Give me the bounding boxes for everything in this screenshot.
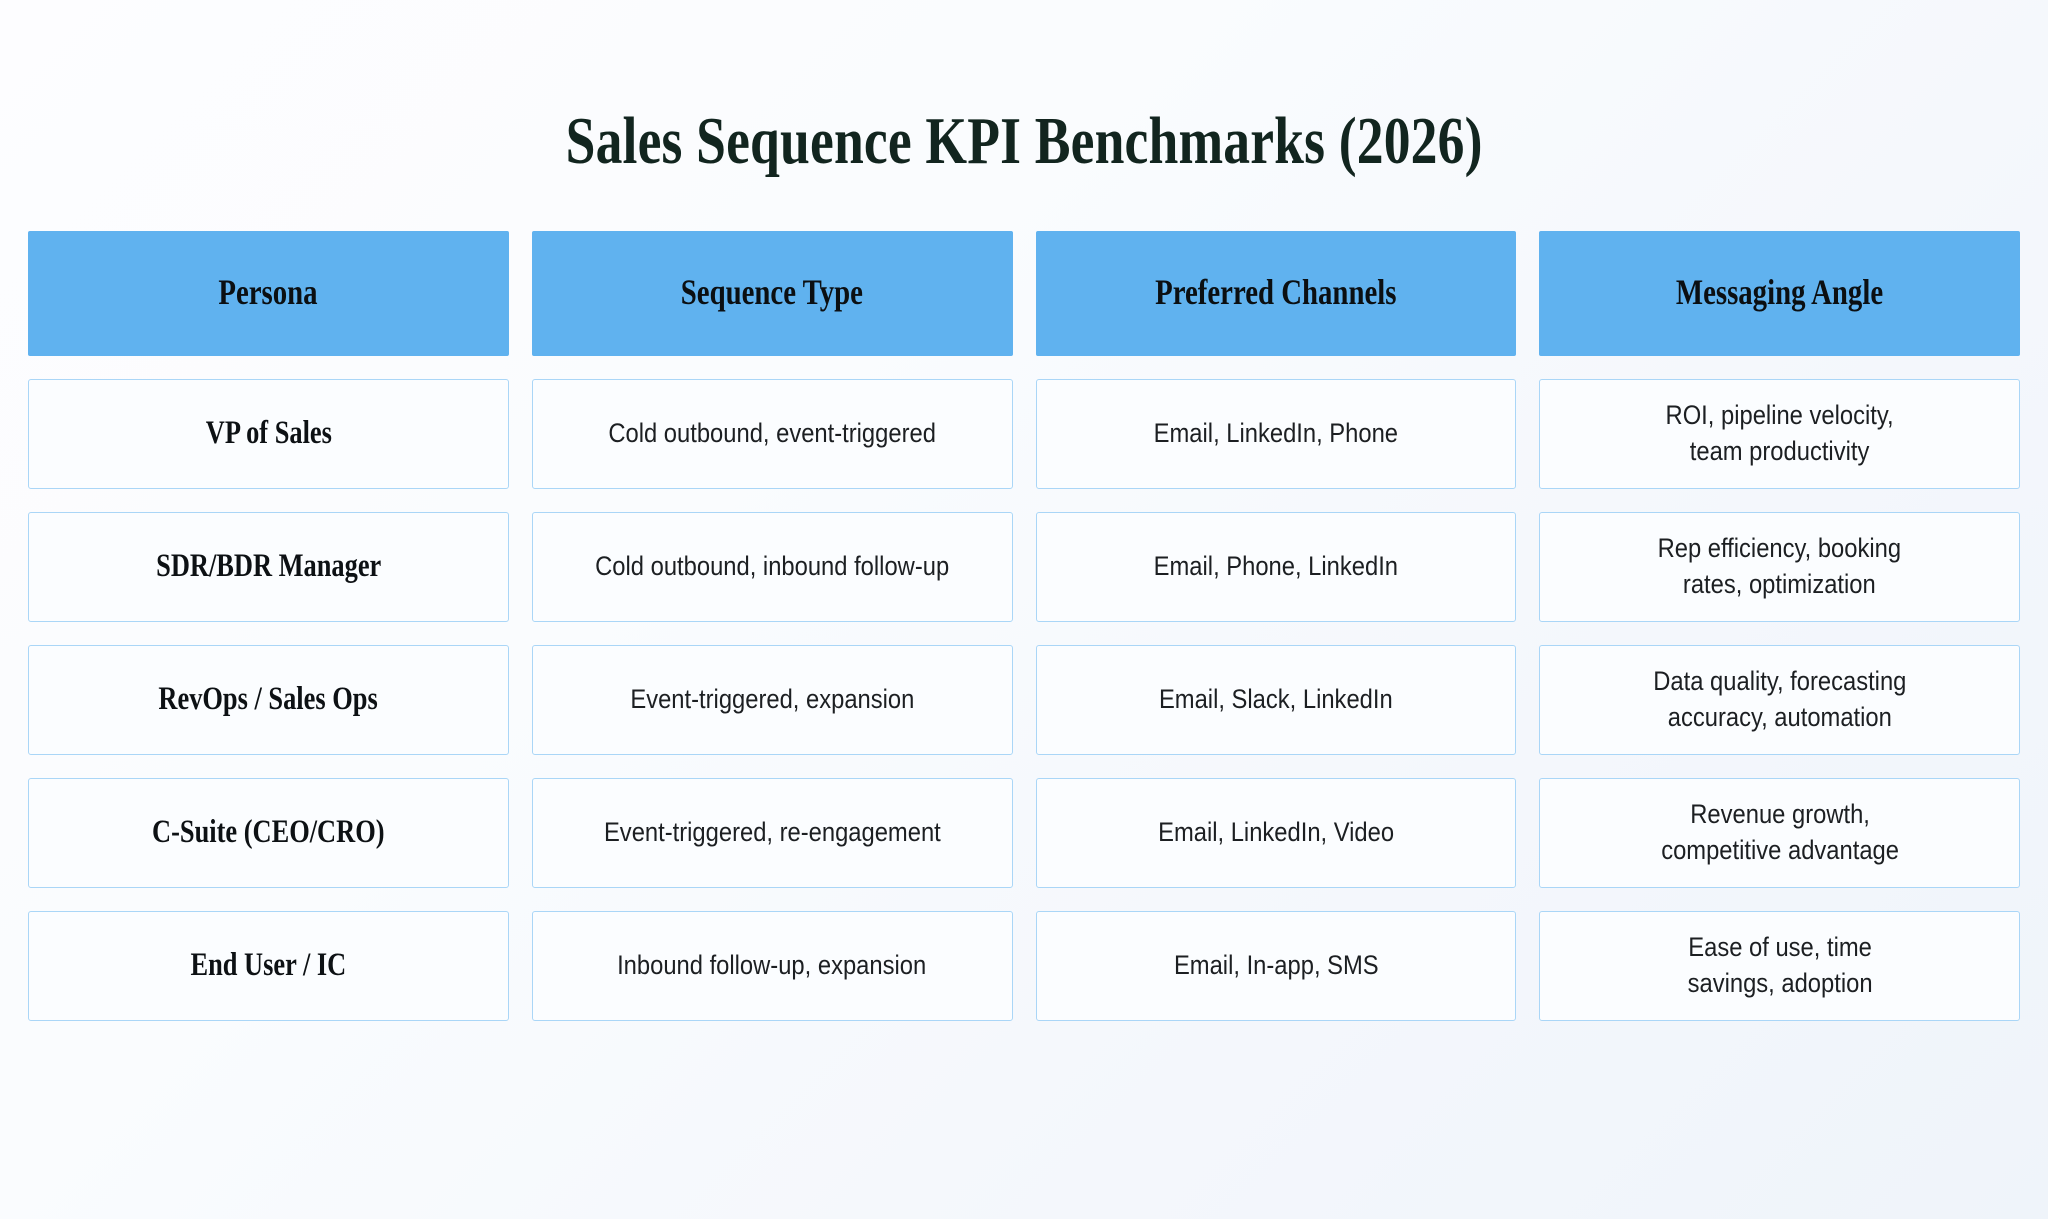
cell-messaging-angle: Ease of use, time savings, adoption xyxy=(1539,911,2020,1021)
cell-sequence-type: Event-triggered, re-engagement xyxy=(532,778,1013,888)
column-header-label: Sequence Type xyxy=(681,272,863,313)
cell-preferred-channels: Email, Slack, LinkedIn xyxy=(1036,645,1517,755)
cell-persona: RevOps / Sales Ops xyxy=(28,645,509,755)
cell-sequence-type: Cold outbound, event-triggered xyxy=(532,379,1013,489)
column-header-persona: Persona xyxy=(28,231,509,356)
cell-preferred-channels: Email, LinkedIn, Video xyxy=(1036,778,1517,888)
cell-persona: VP of Sales xyxy=(28,379,509,489)
cell-preferred-channels: Email, LinkedIn, Phone xyxy=(1036,379,1517,489)
cell-messaging-angle: ROI, pipeline velocity, team productivit… xyxy=(1539,379,2020,489)
column-header-sequence-type: Sequence Type xyxy=(532,231,1013,356)
page-title: Sales Sequence KPI Benchmarks (2026) xyxy=(566,105,1483,179)
table-row: SDR/BDR Manager Cold outbound, inbound f… xyxy=(28,512,2020,622)
table-row: VP of Sales Cold outbound, event-trigger… xyxy=(28,379,2020,489)
preferred-channels-label: Email, Phone, LinkedIn xyxy=(1154,549,1398,585)
table-row: End User / IC Inbound follow-up, expansi… xyxy=(28,911,2020,1021)
preferred-channels-label: Email, LinkedIn, Phone xyxy=(1154,416,1398,452)
sequence-type-label: Event-triggered, re-engagement xyxy=(604,815,941,851)
preferred-channels-label: Email, Slack, LinkedIn xyxy=(1159,682,1393,718)
sequence-type-label: Event-triggered, expansion xyxy=(630,682,914,718)
persona-label: SDR/BDR Manager xyxy=(156,547,381,587)
messaging-angle-label: Data quality, forecasting accuracy, auto… xyxy=(1653,664,1906,736)
table-header-row: Persona Sequence Type Preferred Channels… xyxy=(28,231,2020,356)
preferred-channels-label: Email, LinkedIn, Video xyxy=(1158,815,1394,851)
table-row: RevOps / Sales Ops Event-triggered, expa… xyxy=(28,645,2020,755)
messaging-angle-label: Ease of use, time savings, adoption xyxy=(1687,930,1872,1002)
benchmarks-table: Persona Sequence Type Preferred Channels… xyxy=(28,231,2020,1021)
title-container: Sales Sequence KPI Benchmarks (2026) xyxy=(28,0,2020,231)
cell-sequence-type: Inbound follow-up, expansion xyxy=(532,911,1013,1021)
sequence-type-label: Inbound follow-up, expansion xyxy=(618,948,927,984)
cell-messaging-angle: Rep efficiency, booking rates, optimizat… xyxy=(1539,512,2020,622)
cell-preferred-channels: Email, In-app, SMS xyxy=(1036,911,1517,1021)
sequence-type-label: Cold outbound, inbound follow-up xyxy=(595,549,949,585)
column-header-label: Preferred Channels xyxy=(1155,272,1396,313)
slide-canvas: Sales Sequence KPI Benchmarks (2026) Per… xyxy=(0,0,2048,1219)
persona-label: C-Suite (CEO/CRO) xyxy=(152,813,384,853)
column-header-label: Persona xyxy=(219,272,318,313)
column-header-preferred-channels: Preferred Channels xyxy=(1036,231,1517,356)
messaging-angle-label: Rep efficiency, booking rates, optimizat… xyxy=(1658,531,1901,603)
cell-messaging-angle: Revenue growth, competitive advantage xyxy=(1539,778,2020,888)
column-header-label: Messaging Angle xyxy=(1676,272,1883,313)
messaging-angle-label: ROI, pipeline velocity, team productivit… xyxy=(1666,398,1894,470)
cell-persona: SDR/BDR Manager xyxy=(28,512,509,622)
preferred-channels-label: Email, In-app, SMS xyxy=(1174,948,1379,984)
column-header-messaging-angle: Messaging Angle xyxy=(1539,231,2020,356)
table-row: C-Suite (CEO/CRO) Event-triggered, re-en… xyxy=(28,778,2020,888)
messaging-angle-label: Revenue growth, competitive advantage xyxy=(1661,797,1899,869)
sequence-type-label: Cold outbound, event-triggered xyxy=(608,416,936,452)
cell-sequence-type: Cold outbound, inbound follow-up xyxy=(532,512,1013,622)
cell-preferred-channels: Email, Phone, LinkedIn xyxy=(1036,512,1517,622)
cell-sequence-type: Event-triggered, expansion xyxy=(532,645,1013,755)
persona-label: End User / IC xyxy=(191,946,347,986)
cell-messaging-angle: Data quality, forecasting accuracy, auto… xyxy=(1539,645,2020,755)
cell-persona: End User / IC xyxy=(28,911,509,1021)
persona-label: VP of Sales xyxy=(205,414,331,454)
persona-label: RevOps / Sales Ops xyxy=(159,680,378,720)
cell-persona: C-Suite (CEO/CRO) xyxy=(28,778,509,888)
